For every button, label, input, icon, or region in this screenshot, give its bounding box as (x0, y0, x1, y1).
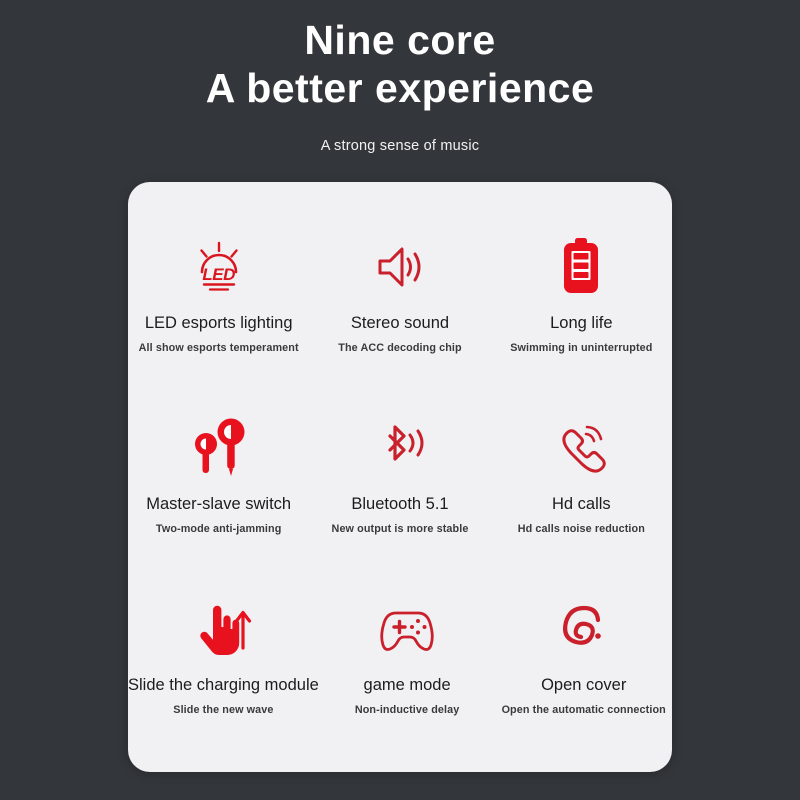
feature-item-stereo-sound[interactable]: Stereo sound The ACC decoding chip (309, 234, 490, 354)
feature-row-1: LED LED esports lighting All show esport… (128, 234, 672, 354)
feature-item-hd-calls[interactable]: Hd calls Hd calls noise reduction (491, 415, 672, 535)
feature-title: Bluetooth 5.1 (351, 495, 448, 513)
feature-item-bluetooth[interactable]: Bluetooth 5.1 New output is more stable (309, 415, 490, 535)
feature-subtitle: Open the automatic connection (502, 704, 666, 716)
gamepad-icon (375, 596, 439, 662)
feature-row-2: Master-slave switch Two-mode anti-jammin… (128, 415, 672, 535)
led-lamp-icon: LED (191, 234, 247, 300)
feature-subtitle: Slide the new wave (173, 704, 273, 716)
feature-subtitle: Hd calls noise reduction (518, 523, 645, 535)
feature-title: Master-slave switch (146, 495, 291, 513)
led-icon-label: LED (191, 265, 247, 285)
feature-item-led-esports-lighting[interactable]: LED LED esports lighting All show esport… (128, 234, 309, 354)
spiral-e-icon (558, 596, 610, 662)
page-title-line-1: Nine core (0, 16, 800, 64)
feature-title: Hd calls (552, 495, 611, 513)
feature-subtitle: Swimming in uninterrupted (510, 342, 652, 354)
page-header: Nine core A better experience A strong s… (0, 0, 800, 154)
feature-item-long-life[interactable]: Long life Swimming in uninterrupted (491, 234, 672, 354)
feature-subtitle: Non-inductive delay (355, 704, 460, 716)
feature-title: Stereo sound (351, 314, 449, 332)
feature-subtitle: Two-mode anti-jamming (156, 523, 281, 535)
features-card: LED LED esports lighting All show esport… (128, 182, 672, 772)
hand-swipe-up-icon (193, 596, 253, 662)
feature-title: Open cover (541, 676, 626, 694)
speaker-sound-icon (373, 234, 427, 300)
feature-subtitle: New output is more stable (332, 523, 469, 535)
feature-item-master-slave-switch[interactable]: Master-slave switch Two-mode anti-jammin… (128, 415, 309, 535)
feature-subtitle: All show esports temperament (139, 342, 299, 354)
feature-title: game mode (364, 676, 451, 694)
phone-call-icon (553, 415, 609, 481)
feature-item-game-mode[interactable]: game mode Non-inductive delay (319, 596, 496, 716)
feature-row-3: Slide the charging module Slide the new … (128, 596, 672, 716)
feature-item-slide-charging-module[interactable]: Slide the charging module Slide the new … (128, 596, 319, 716)
feature-subtitle: The ACC decoding chip (338, 342, 461, 354)
feature-title: LED esports lighting (145, 314, 293, 332)
page-title-line-2: A better experience (0, 64, 800, 112)
bluetooth-icon (371, 415, 429, 481)
feature-item-open-cover[interactable]: Open cover Open the automatic connection (495, 596, 672, 716)
earbuds-icon (190, 415, 248, 481)
battery-icon (559, 234, 603, 300)
feature-title: Slide the charging module (128, 676, 319, 694)
feature-title: Long life (550, 314, 612, 332)
page-subtitle: A strong sense of music (0, 138, 800, 154)
